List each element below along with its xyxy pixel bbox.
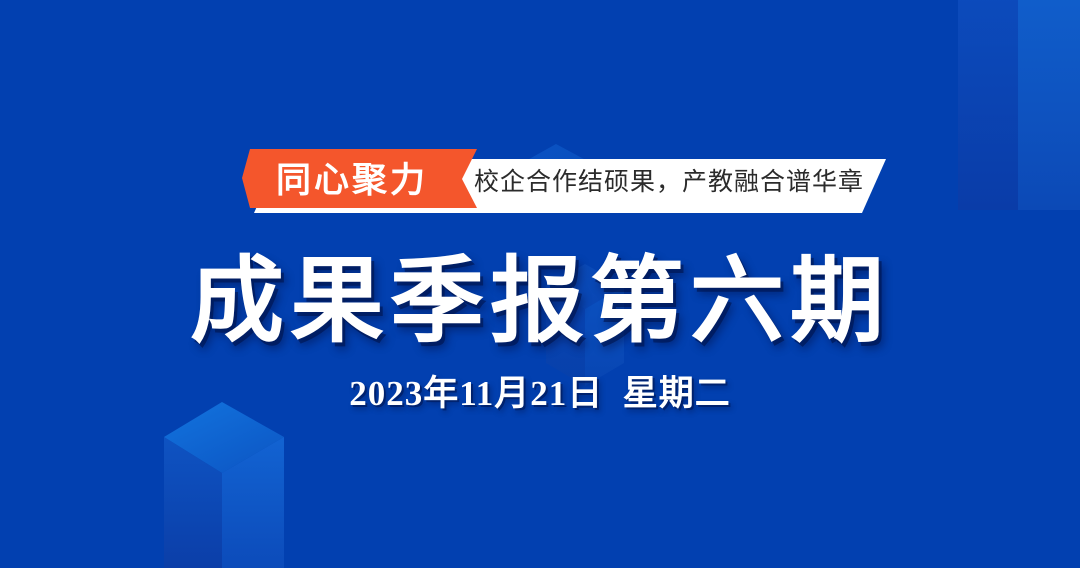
poster-canvas: 同心聚力 校企合作结硕果，产教融合谱华章 成果季报第六期 2023年11月21日… — [0, 0, 1080, 568]
banner-tag-label: 同心聚力 — [257, 161, 447, 201]
page-title: 成果季报第六期 — [0, 248, 1080, 356]
cube-bottom-left-icon — [163, 401, 285, 568]
date-label: 2023年11月21日 星期二 — [0, 372, 1080, 416]
banner-subtitle-label: 校企合作结硕果，产教融合谱华章 — [474, 165, 864, 199]
banner-row: 同心聚力 校企合作结硕果，产教融合谱华章 — [0, 148, 1080, 218]
